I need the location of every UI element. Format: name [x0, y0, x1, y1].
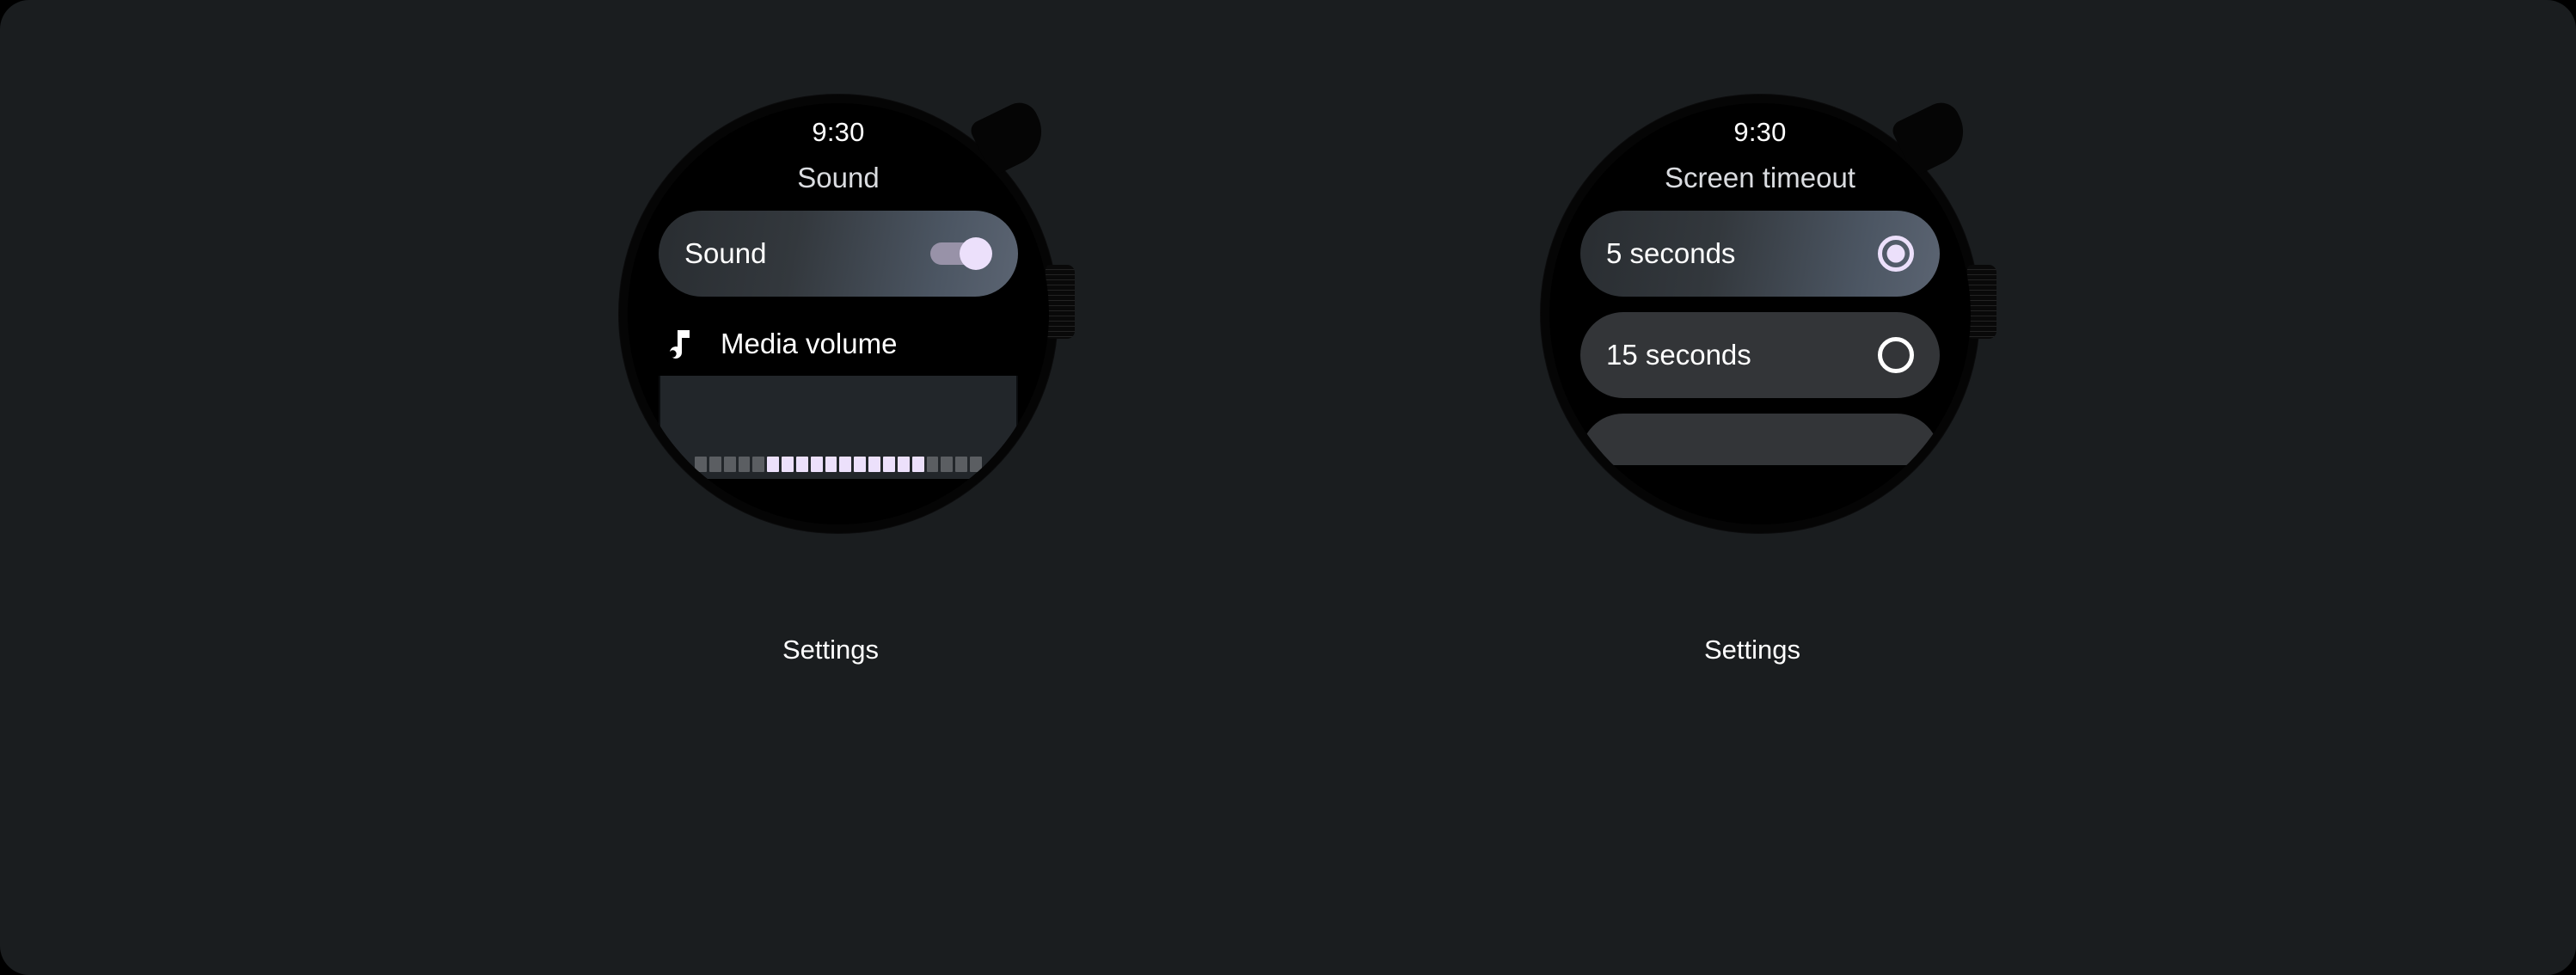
page-canvas: 9:30 Sound Sound [0, 0, 2576, 975]
watch-screen-screen-timeout: 9:30 Screen timeout 5 seconds 15 seconds [1549, 103, 1971, 524]
list-item-sound-toggle[interactable]: Sound [659, 211, 1018, 297]
radio-button-selected[interactable] [1878, 236, 1914, 272]
list-item-label: 15 seconds [1606, 339, 1878, 371]
volume-bar [724, 457, 736, 472]
settings-list[interactable]: Sound Media volume [659, 211, 1018, 479]
settings-list[interactable]: 5 seconds 15 seconds [1580, 211, 1940, 465]
volume-bar [782, 457, 794, 472]
switch-thumb [960, 237, 992, 270]
list-item-label: Sound [684, 237, 930, 270]
volume-bar [709, 457, 721, 472]
watch-crown-button[interactable] [1967, 265, 1996, 339]
volume-bar [912, 457, 924, 472]
music-note-icon [665, 327, 695, 361]
volume-bar [868, 457, 880, 472]
volume-bar [739, 457, 751, 472]
watch-crown-button[interactable] [1046, 265, 1075, 339]
volume-bar [955, 457, 967, 472]
list-item-5-seconds[interactable]: 5 seconds [1580, 211, 1940, 297]
list-item-15-seconds[interactable]: 15 seconds [1580, 312, 1940, 398]
volume-bar [811, 457, 823, 472]
radio-button-unselected[interactable] [1878, 337, 1914, 373]
status-time: 9:30 [1549, 117, 1971, 148]
volume-bar [883, 457, 895, 472]
volume-bar [941, 457, 953, 472]
volume-bar-track [660, 457, 1016, 479]
watch-caption: Settings [495, 635, 1166, 665]
list-item-media-volume[interactable]: Media volume [659, 312, 1018, 376]
volume-bar [825, 457, 837, 472]
volume-bar [898, 457, 910, 472]
media-volume-slider[interactable] [659, 376, 1018, 479]
volume-bar [854, 457, 866, 472]
list-item-label: Media volume [721, 328, 897, 360]
list-item-label: 5 seconds [1606, 237, 1878, 270]
watch-preview-screen-timeout: 9:30 Screen timeout 5 seconds 15 seconds… [1417, 95, 2088, 868]
watch-caption: Settings [1417, 635, 2088, 665]
page-title: Screen timeout [1549, 162, 1971, 194]
list-item-partial[interactable] [1580, 414, 1940, 465]
sound-toggle-switch[interactable] [930, 237, 992, 270]
watch-screen-sound: 9:30 Sound Sound [628, 103, 1049, 524]
volume-bar [839, 457, 851, 472]
volume-bar [970, 457, 982, 472]
watch-preview-sound: 9:30 Sound Sound [495, 95, 1166, 868]
volume-bar [927, 457, 939, 472]
volume-bar [695, 457, 707, 472]
page-title: Sound [628, 162, 1049, 194]
volume-bar [767, 457, 779, 472]
volume-bar [752, 457, 764, 472]
status-time: 9:30 [628, 117, 1049, 148]
volume-bar [796, 457, 808, 472]
